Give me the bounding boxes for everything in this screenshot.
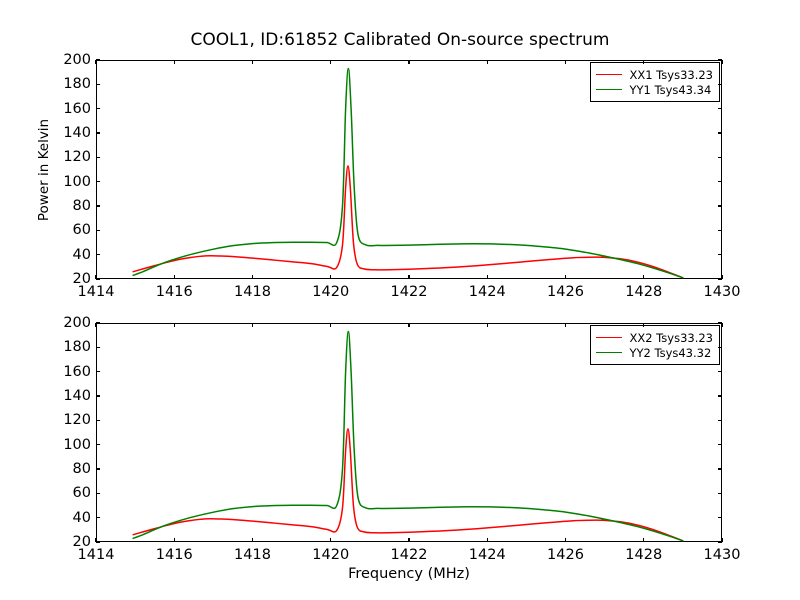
- x-tick: [721, 538, 722, 542]
- x-tick-label: 1426: [547, 547, 584, 563]
- x-tick: [643, 538, 644, 542]
- x-tick-label: 1416: [156, 547, 193, 563]
- y-tick: [96, 132, 100, 133]
- y-tick-label: 160: [63, 364, 91, 380]
- y-tick: [718, 181, 722, 182]
- x-tick: [174, 60, 175, 64]
- y-tick: [718, 84, 722, 85]
- x-tick: [330, 60, 331, 64]
- y-tick-label: 160: [63, 101, 91, 117]
- panel-bottom-legend: XX2 Tsys33.23YY2 Tsys43.32: [590, 325, 720, 365]
- y-tick-label: 60: [73, 485, 91, 501]
- y-tick-label: 120: [63, 149, 91, 165]
- y-tick: [718, 493, 722, 494]
- y-tick: [718, 371, 722, 372]
- legend-item: XX1 Tsys33.23: [596, 67, 713, 82]
- legend-item: YY2 Tsys43.32: [596, 345, 713, 360]
- y-tick: [96, 541, 100, 542]
- x-tick-label: 1422: [391, 284, 428, 300]
- x-tick-label: 1426: [547, 284, 584, 300]
- x-tick-label: 1418: [234, 547, 271, 563]
- y-tick: [718, 254, 722, 255]
- x-tick: [95, 60, 96, 64]
- x-tick: [643, 323, 644, 327]
- legend-item: YY1 Tsys43.34: [596, 82, 713, 97]
- y-tick-label: 100: [63, 437, 91, 453]
- series-line: [133, 429, 683, 541]
- x-tick: [408, 323, 409, 327]
- y-tick: [96, 84, 100, 85]
- y-tick: [718, 108, 722, 109]
- y-tick: [96, 59, 100, 60]
- y-tick: [96, 108, 100, 109]
- y-tick: [718, 347, 722, 348]
- y-tick: [96, 278, 100, 279]
- legend-label: YY2 Tsys43.32: [629, 346, 711, 360]
- y-tick: [96, 444, 100, 445]
- x-axis-label: Frequency (MHz): [96, 566, 722, 582]
- y-tick-label: 80: [73, 198, 91, 214]
- x-tick: [487, 275, 488, 279]
- legend-label: XX2 Tsys33.23: [629, 331, 713, 345]
- y-tick: [96, 205, 100, 206]
- x-tick-label: 1416: [156, 284, 193, 300]
- x-tick: [721, 60, 722, 64]
- y-tick: [96, 254, 100, 255]
- x-tick: [565, 60, 566, 64]
- y-tick-label: 140: [63, 125, 91, 141]
- x-tick: [330, 275, 331, 279]
- y-tick: [96, 420, 100, 421]
- x-tick-label: 1420: [312, 284, 349, 300]
- x-tick: [565, 275, 566, 279]
- x-tick-label: 1430: [704, 547, 741, 563]
- y-tick-label: 140: [63, 388, 91, 404]
- y-tick: [96, 395, 100, 396]
- x-tick: [252, 275, 253, 279]
- y-tick: [718, 444, 722, 445]
- x-tick: [95, 538, 96, 542]
- y-tick: [96, 230, 100, 231]
- panel-top: XX1 Tsys33.23YY1 Tsys43.34 2040608010012…: [96, 60, 722, 279]
- y-axis-label: Power in Kelvin: [36, 118, 52, 220]
- x-tick-label: 1414: [78, 547, 115, 563]
- x-tick: [330, 538, 331, 542]
- x-tick: [721, 323, 722, 327]
- x-tick: [565, 323, 566, 327]
- y-tick: [718, 517, 722, 518]
- legend-label: XX1 Tsys33.23: [629, 68, 713, 82]
- x-tick-label: 1418: [234, 284, 271, 300]
- x-tick: [408, 275, 409, 279]
- x-tick-label: 1424: [469, 284, 506, 300]
- x-tick: [174, 323, 175, 327]
- x-tick: [565, 538, 566, 542]
- y-tick: [718, 132, 722, 133]
- y-tick-label: 40: [73, 510, 91, 526]
- x-tick: [330, 323, 331, 327]
- legend-swatch-icon: [596, 89, 622, 90]
- legend-swatch-icon: [596, 74, 622, 75]
- y-tick-label: 40: [73, 247, 91, 263]
- legend-label: YY1 Tsys43.34: [629, 83, 711, 97]
- y-tick-label: 100: [63, 174, 91, 190]
- x-tick-label: 1424: [469, 547, 506, 563]
- y-tick-label: 180: [63, 339, 91, 355]
- x-tick: [643, 60, 644, 64]
- x-tick: [95, 323, 96, 327]
- y-tick: [96, 157, 100, 158]
- series-line: [133, 166, 683, 278]
- x-tick: [252, 538, 253, 542]
- x-tick: [721, 275, 722, 279]
- legend-swatch-icon: [596, 352, 622, 353]
- x-tick: [487, 323, 488, 327]
- y-tick: [96, 347, 100, 348]
- y-tick: [718, 230, 722, 231]
- panel-top-legend: XX1 Tsys33.23YY1 Tsys43.34: [590, 62, 720, 102]
- y-tick: [718, 157, 722, 158]
- y-tick: [96, 468, 100, 469]
- panel-bottom: XX2 Tsys33.23YY2 Tsys43.32 2040608010012…: [96, 323, 722, 542]
- x-tick: [487, 538, 488, 542]
- y-tick-label: 120: [63, 412, 91, 428]
- x-tick: [408, 538, 409, 542]
- y-tick: [96, 181, 100, 182]
- x-tick: [174, 275, 175, 279]
- legend-swatch-icon: [596, 337, 622, 338]
- y-tick-label: 200: [63, 315, 91, 331]
- y-tick: [96, 493, 100, 494]
- y-tick: [718, 395, 722, 396]
- y-tick-label: 60: [73, 222, 91, 238]
- x-tick: [174, 538, 175, 542]
- x-tick: [487, 60, 488, 64]
- x-tick: [252, 323, 253, 327]
- y-tick-label: 180: [63, 76, 91, 92]
- y-tick-label: 200: [63, 52, 91, 68]
- x-tick-label: 1428: [625, 284, 662, 300]
- x-tick-label: 1422: [391, 547, 428, 563]
- y-tick-label: 80: [73, 461, 91, 477]
- x-tick: [252, 60, 253, 64]
- y-tick: [96, 322, 100, 323]
- x-tick-label: 1414: [78, 284, 115, 300]
- x-tick: [408, 60, 409, 64]
- x-tick: [643, 275, 644, 279]
- y-tick: [718, 420, 722, 421]
- y-tick: [718, 205, 722, 206]
- x-tick-label: 1420: [312, 547, 349, 563]
- page-title: COOL1, ID:61852 Calibrated On-source spe…: [0, 30, 800, 50]
- x-tick-label: 1428: [625, 547, 662, 563]
- legend-item: XX2 Tsys33.23: [596, 330, 713, 345]
- y-tick: [96, 517, 100, 518]
- y-tick: [718, 468, 722, 469]
- y-tick: [96, 371, 100, 372]
- x-tick-label: 1430: [704, 284, 741, 300]
- x-tick: [95, 275, 96, 279]
- figure: COOL1, ID:61852 Calibrated On-source spe…: [0, 0, 800, 600]
